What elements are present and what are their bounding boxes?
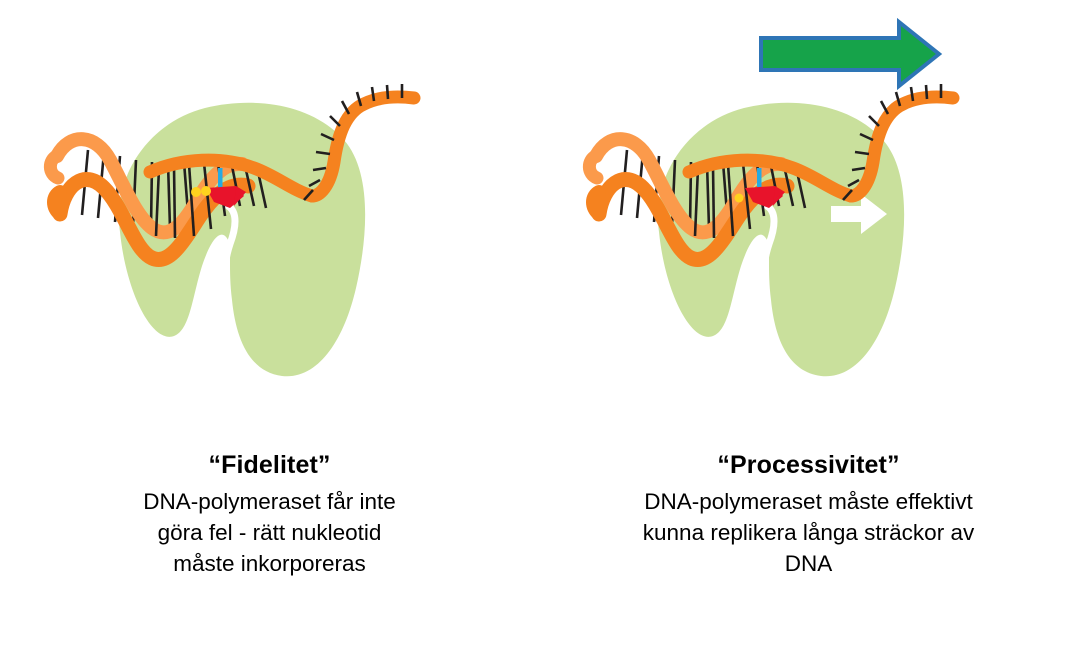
caption-body: DNA-polymeraset måste effektivt kunna re…: [539, 486, 1078, 579]
caption-body: DNA-polymeraset får inte göra fel - rätt…: [0, 486, 539, 579]
slide: “Fidelitet” DNA-polymeraset får inte gör…: [0, 0, 1078, 666]
caption-line: måste inkorporeras: [40, 548, 499, 579]
figure-fidelity: [0, 0, 539, 440]
caption-line: DNA: [579, 548, 1038, 579]
dna-strand-front-terminus: [593, 192, 599, 214]
caption-line: göra fel - rätt nukleotid: [40, 517, 499, 548]
caption-line: DNA-polymeraset får inte: [40, 486, 499, 517]
polymerase-blob: [658, 103, 904, 376]
caption-processivitet: “Processivitet” DNA-polymeraset måste ef…: [539, 448, 1078, 579]
caption-fidelity: “Fidelitet” DNA-polymeraset får inte gör…: [0, 448, 539, 579]
polymerase-blob: [119, 103, 365, 376]
green-progress-arrow: [761, 22, 939, 86]
dna-polymerase-diagram-right: [539, 0, 1078, 440]
caption-line: kunna replikera långa sträckor av: [579, 517, 1038, 548]
metal-ion-dot-2: [201, 186, 211, 196]
incoming-nucleotide-cyan-bar: [757, 168, 762, 190]
figure-processivitet: [539, 0, 1078, 440]
caption-title: “Fidelitet”: [0, 448, 539, 482]
incoming-nucleotide-cyan-bar: [218, 168, 223, 190]
green-progress-arrow-shape: [761, 22, 939, 86]
panel-fidelity: “Fidelitet” DNA-polymeraset får inte gör…: [0, 0, 539, 666]
dna-strand-back-terminus: [50, 156, 58, 178]
dna-strand-back-terminus: [589, 156, 597, 178]
panel-processivitet: “Processivitet” DNA-polymeraset måste ef…: [539, 0, 1078, 666]
metal-ion-dot-1: [191, 187, 201, 197]
caption-title: “Processivitet”: [539, 448, 1078, 482]
metal-ion-dot-1: [735, 194, 744, 203]
dna-polymerase-diagram-left: [0, 0, 539, 440]
caption-line: DNA-polymeraset måste effektivt: [579, 486, 1038, 517]
dna-strand-front-terminus: [54, 192, 60, 214]
